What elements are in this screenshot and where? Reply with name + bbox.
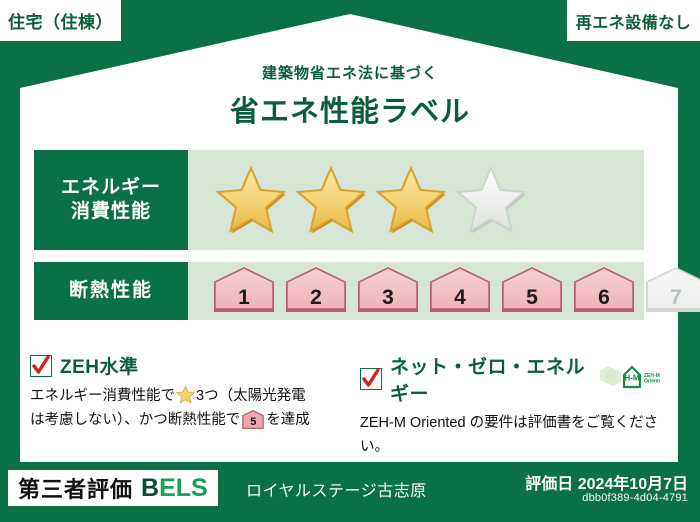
inline-grade-badge: 5 xyxy=(242,410,264,429)
row-insulation-performance: 断熱性能 1234567 xyxy=(34,262,644,320)
star-rating xyxy=(188,150,644,250)
insulation-grade-4: 4 xyxy=(426,266,494,316)
star-filled-icon xyxy=(294,165,368,235)
svg-text:Oriented: Oriented xyxy=(644,378,660,384)
row-energy-performance: エネルギー 消費性能 xyxy=(34,150,644,250)
row-energy-label: エネルギー 消費性能 xyxy=(34,150,188,250)
bels-logo-els: ELS xyxy=(159,474,208,502)
bels-certification-badge: 第三者評価 BELS xyxy=(8,470,218,506)
note-zeh-body-part3: を達成 xyxy=(266,412,310,428)
insulation-grade-value: 5 xyxy=(526,286,538,316)
star-filled-icon xyxy=(374,165,448,235)
bels-logo-b: B xyxy=(141,474,159,502)
insulation-grade-value: 2 xyxy=(310,286,322,316)
tag-building-type: 住宅（住棟） xyxy=(0,0,122,42)
check-icon xyxy=(30,355,52,377)
bels-jp-label: 第三者評価 xyxy=(18,472,133,504)
row-energy-label-line1: エネルギー xyxy=(61,176,161,200)
note-zeh-standard: ZEH水準 エネルギー消費性能で 3つ（太陽光発電 は考慮しない）、かつ断熱性能… xyxy=(30,352,350,433)
check-icon xyxy=(360,368,382,390)
title-subtitle: 建築物省エネ法に基づく xyxy=(0,62,700,83)
note-zeh-header: ZEH水準 xyxy=(30,352,350,379)
note-zeh-title: ZEH水準 xyxy=(60,352,139,379)
insulation-grade-value: 4 xyxy=(454,286,466,316)
note-net-zero-energy: ネット・ゼロ・エネルギー H-M ZEH-M Oriented ZEH-M Or… xyxy=(360,352,660,460)
note-zeh-body: エネルギー消費性能で 3つ（太陽光発電 は考慮しない）、かつ断熱性能で 5 を達… xyxy=(30,385,350,433)
footer-bar: 第三者評価 BELS ロイヤルステージ古志原 評価日 2024年10月7日 db… xyxy=(0,462,700,522)
insulation-grade-value: 6 xyxy=(598,286,610,316)
note-zeh-body-part1: エネルギー消費性能で xyxy=(30,388,175,404)
bels-logo: BELS xyxy=(141,474,208,503)
tag-renewable-energy: 再エネ設備なし xyxy=(566,0,700,42)
row-energy-label-line2: 消費性能 xyxy=(71,200,151,224)
insulation-grade-5: 5 xyxy=(498,266,566,316)
title-block: 建築物省エネ法に基づく 省エネ性能ラベル xyxy=(0,62,700,130)
insulation-grade-value: 3 xyxy=(382,286,394,316)
insulation-grade-3: 3 xyxy=(354,266,422,316)
star-filled-icon xyxy=(214,165,288,235)
note-nze-header: ネット・ゼロ・エネルギー H-M ZEH-M Oriented xyxy=(360,352,660,406)
page-title: 省エネ性能ラベル xyxy=(0,88,700,130)
insulation-grade-6: 6 xyxy=(570,266,638,316)
evaluation-id: dbb0f389-4d04-4791 xyxy=(582,492,688,504)
note-nze-body: ZEH-M Oriented の要件は評価書をご覧ください。 xyxy=(360,412,660,460)
insulation-grade-scale: 1234567 xyxy=(188,262,700,320)
insulation-grade-value: 7 xyxy=(670,286,682,316)
insulation-grade-1: 1 xyxy=(210,266,278,316)
note-nze-title: ネット・ゼロ・エネルギー xyxy=(390,352,586,406)
note-zeh-body-part2: は考慮しない）、かつ断熱性能で xyxy=(30,412,240,428)
insulation-grade-7: 7 xyxy=(642,266,700,316)
insulation-grade-2: 2 xyxy=(282,266,350,316)
zeh-m-logo-icon: H-M ZEH-M Oriented xyxy=(598,363,660,396)
star-empty-icon xyxy=(454,165,528,235)
svg-text:H-M: H-M xyxy=(624,373,639,382)
row-insulation-label-line1: 断熱性能 xyxy=(69,279,153,303)
property-name: ロイヤルステージ古志原 xyxy=(246,477,427,501)
note-zeh-body-stars: 3つ（太陽光発電 xyxy=(196,388,306,404)
inline-star-icon xyxy=(176,385,195,404)
energy-performance-label: 住宅（住棟） 再エネ設備なし 建築物省エネ法に基づく 省エネ性能ラベル エネルギ… xyxy=(0,0,700,522)
insulation-grade-value: 1 xyxy=(238,286,250,316)
row-insulation-label: 断熱性能 xyxy=(34,262,188,320)
inline-grade-value: 5 xyxy=(242,413,264,431)
evaluation-date: 評価日 2024年10月7日 xyxy=(525,470,688,494)
